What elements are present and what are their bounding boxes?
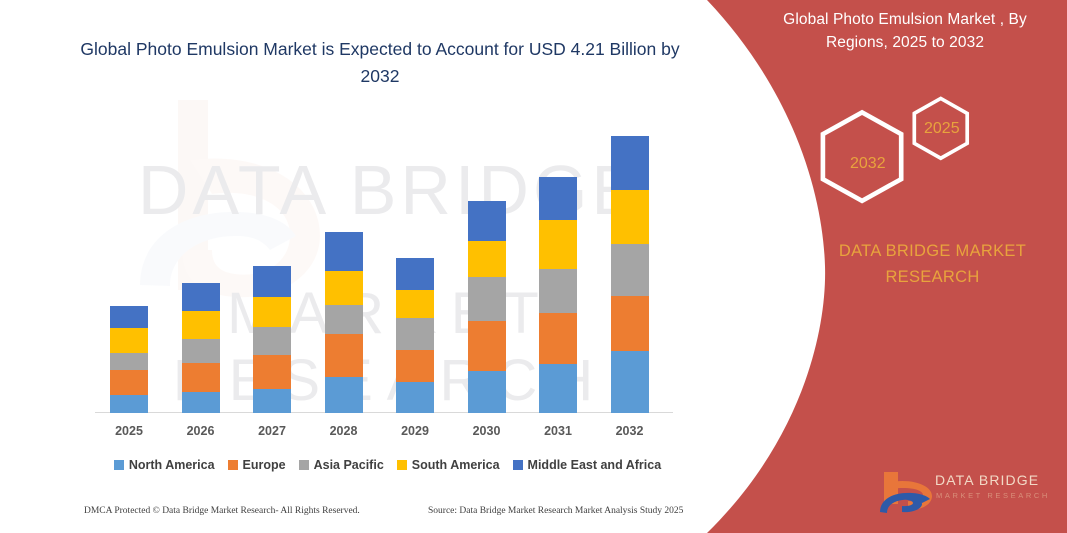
legend-swatch-europe bbox=[228, 460, 238, 470]
bar-segment-south-america bbox=[468, 241, 506, 277]
bar-segment-asia-pacific bbox=[110, 353, 148, 370]
bar-segment-middle-east-and-africa bbox=[110, 306, 148, 328]
legend-label-south-america: South America bbox=[412, 458, 500, 472]
footer-copyright: DMCA Protected © Data Bridge Market Rese… bbox=[84, 506, 360, 516]
bar-segment-asia-pacific bbox=[539, 269, 577, 313]
bar-segment-europe bbox=[325, 334, 363, 377]
bar-segment-north-america bbox=[110, 395, 148, 413]
x-axis-label-2029: 2029 bbox=[385, 424, 445, 438]
footer-source: Source: Data Bridge Market Research Mark… bbox=[428, 506, 683, 516]
bar-segment-middle-east-and-africa bbox=[253, 266, 291, 297]
bar-segment-north-america bbox=[325, 377, 363, 413]
bar-segment-europe bbox=[468, 321, 506, 371]
bar-segment-middle-east-and-africa bbox=[611, 136, 649, 190]
chart-legend: North AmericaEuropeAsia PacificSouth Ame… bbox=[95, 456, 680, 474]
bar-segment-south-america bbox=[396, 290, 434, 318]
x-axis-label-2028: 2028 bbox=[314, 424, 374, 438]
footer: DMCA Protected © Data Bridge Market Rese… bbox=[0, 506, 700, 526]
legend-label-asia-pacific: Asia Pacific bbox=[314, 458, 384, 472]
bar-segment-europe bbox=[182, 363, 220, 392]
bar-segment-middle-east-and-africa bbox=[468, 201, 506, 241]
x-axis-label-2025: 2025 bbox=[99, 424, 159, 438]
bar-segment-asia-pacific bbox=[611, 244, 649, 296]
bar-segment-asia-pacific bbox=[182, 339, 220, 363]
bar-segment-south-america bbox=[611, 190, 649, 244]
bar-segment-south-america bbox=[539, 220, 577, 269]
bar-segment-south-america bbox=[182, 311, 220, 339]
legend-item-asia-pacific[interactable]: Asia Pacific bbox=[299, 458, 384, 472]
chart-title: Global Photo Emulsion Market is Expected… bbox=[80, 36, 680, 90]
bar-segment-middle-east-and-africa bbox=[182, 283, 220, 311]
bar-2027 bbox=[253, 266, 291, 413]
x-axis-label-2026: 2026 bbox=[171, 424, 231, 438]
bar-segment-europe bbox=[539, 313, 577, 364]
bar-2030 bbox=[468, 201, 506, 413]
legend-item-europe[interactable]: Europe bbox=[228, 458, 286, 472]
bar-2026 bbox=[182, 283, 220, 413]
legend-swatch-asia-pacific bbox=[299, 460, 309, 470]
x-axis-label-2031: 2031 bbox=[528, 424, 588, 438]
bar-2025 bbox=[110, 306, 148, 413]
bar-segment-south-america bbox=[325, 271, 363, 305]
hexagon-2032-label: 2032 bbox=[850, 155, 886, 173]
bar-segment-south-america bbox=[253, 297, 291, 327]
x-axis-labels: 20252026202720282029203020312032 bbox=[95, 424, 680, 444]
legend-swatch-middle-east-and-africa bbox=[513, 460, 523, 470]
company-logo-text: DATA BRIDGE bbox=[935, 472, 1039, 488]
panel-title: Global Photo Emulsion Market , By Region… bbox=[755, 8, 1055, 54]
bar-segment-europe bbox=[396, 350, 434, 382]
bar-segment-europe bbox=[110, 370, 148, 395]
company-logo-subtext: MARKET RESEARCH bbox=[936, 491, 1050, 500]
bar-segment-north-america bbox=[253, 389, 291, 413]
bar-segment-asia-pacific bbox=[325, 305, 363, 334]
legend-swatch-north-america bbox=[114, 460, 124, 470]
bar-segment-north-america bbox=[539, 364, 577, 413]
bar-segment-middle-east-and-africa bbox=[539, 177, 577, 220]
bar-chart-plot bbox=[95, 125, 680, 413]
hexagon-2025-label: 2025 bbox=[924, 120, 960, 138]
x-axis-label-2030: 2030 bbox=[457, 424, 517, 438]
legend-item-south-america[interactable]: South America bbox=[397, 458, 500, 472]
bar-segment-middle-east-and-africa bbox=[325, 232, 363, 271]
bar-segment-middle-east-and-africa bbox=[396, 258, 434, 290]
bar-segment-north-america bbox=[396, 382, 434, 413]
infographic-canvas: DATA BRIDGE MARKET RESEARCH Global Photo… bbox=[0, 0, 1067, 533]
legend-swatch-south-america bbox=[397, 460, 407, 470]
bar-segment-south-america bbox=[110, 328, 148, 353]
bar-segment-europe bbox=[611, 296, 649, 351]
bar-2031 bbox=[539, 177, 577, 413]
legend-item-north-america[interactable]: North America bbox=[114, 458, 215, 472]
bar-segment-asia-pacific bbox=[253, 327, 291, 355]
brand-name: DATA BRIDGE MARKET RESEARCH bbox=[790, 238, 1067, 290]
bar-segment-north-america bbox=[468, 371, 506, 413]
bar-segment-north-america bbox=[611, 351, 649, 413]
x-axis-label-2027: 2027 bbox=[242, 424, 302, 438]
brand-name-line-2: RESEARCH bbox=[885, 268, 979, 286]
bar-segment-asia-pacific bbox=[468, 277, 506, 321]
legend-label-north-america: North America bbox=[129, 458, 215, 472]
bar-2028 bbox=[325, 232, 363, 413]
bar-2032 bbox=[611, 136, 649, 413]
bar-segment-europe bbox=[253, 355, 291, 389]
legend-label-europe: Europe bbox=[243, 458, 286, 472]
bar-segment-north-america bbox=[182, 392, 220, 413]
bar-segment-asia-pacific bbox=[396, 318, 434, 350]
hexagon-badges: 2032 2025 bbox=[820, 95, 1000, 215]
x-axis-label-2032: 2032 bbox=[600, 424, 660, 438]
bar-2029 bbox=[396, 258, 434, 413]
legend-item-middle-east-and-africa[interactable]: Middle East and Africa bbox=[513, 458, 662, 472]
brand-name-line-1: DATA BRIDGE MARKET bbox=[839, 242, 1026, 260]
legend-label-middle-east-and-africa: Middle East and Africa bbox=[528, 458, 662, 472]
